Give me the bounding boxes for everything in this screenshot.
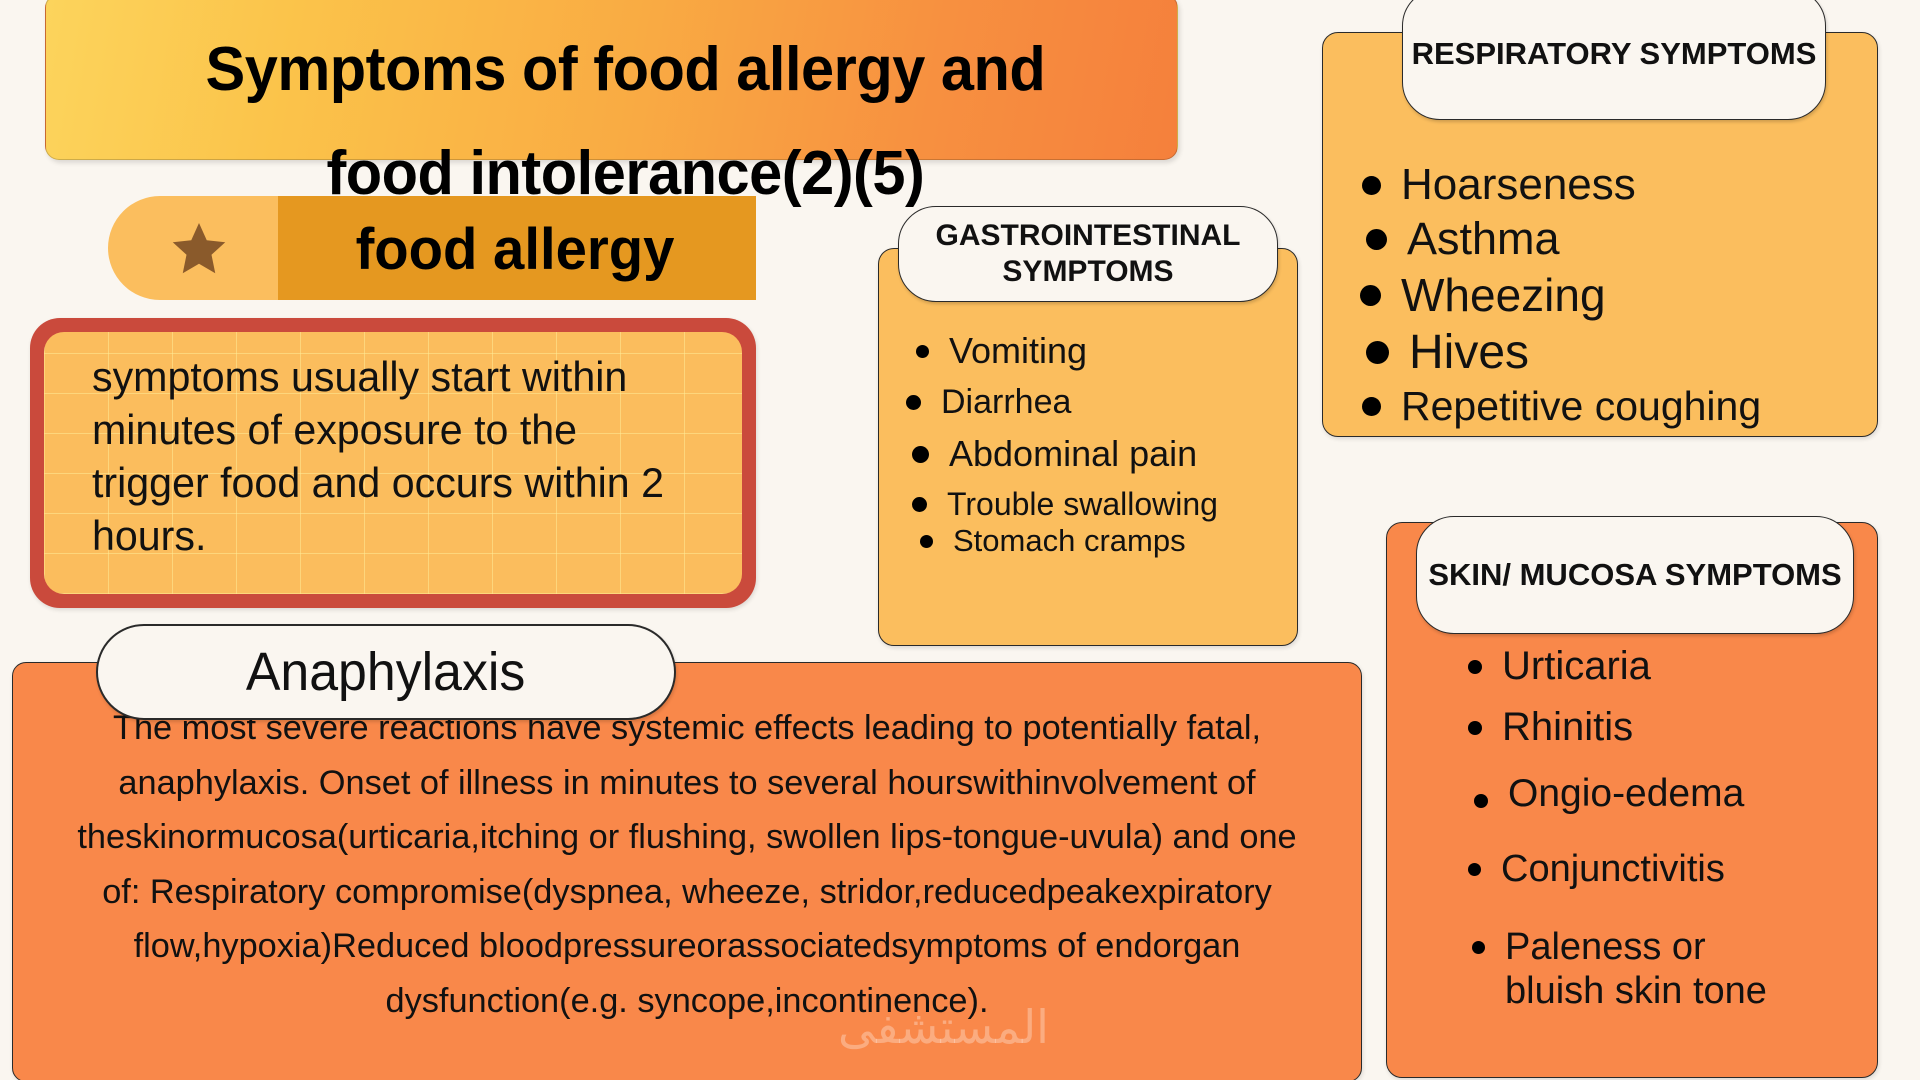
list-item: Repetitive coughing: [1352, 383, 1892, 430]
list-item-label: Conjunctivitis: [1501, 848, 1725, 891]
bullet-icon: [1362, 176, 1381, 195]
list-item-label: Abdominal pain: [949, 433, 1197, 475]
list-item-label: Paleness or bluish skin tone: [1505, 925, 1805, 1013]
gastrointestinal-header: GASTROINTESTINAL SYMPTOMS: [898, 206, 1278, 302]
anaphylaxis-label: Anaphylaxis: [246, 641, 526, 703]
anaphylaxis-card: The most severe reactions have systemic …: [12, 662, 1362, 1080]
list-item: Asthma: [1352, 213, 1892, 265]
bullet-icon: [912, 446, 929, 463]
list-item-label: Ongio-edema: [1508, 772, 1744, 816]
skin-mucosa-list: Urticaria Rhinitis Ongio-edema Conjuncti…: [1468, 644, 1920, 1013]
bullet-icon: [1468, 660, 1482, 674]
list-item-label: Hoarseness: [1401, 160, 1636, 210]
bullet-icon: [1366, 341, 1389, 364]
bullet-icon: [906, 395, 921, 410]
list-item-label: Asthma: [1407, 213, 1560, 265]
bullet-icon: [1366, 229, 1387, 250]
bullet-icon: [1360, 285, 1381, 306]
anaphylaxis-header: Anaphylaxis: [96, 624, 676, 720]
list-item: Diarrhea: [902, 383, 1302, 422]
list-item: Vomiting: [902, 330, 1302, 372]
bullet-icon: [1474, 794, 1488, 808]
food-allergy-label: food allergy: [306, 206, 723, 292]
list-item-label: Trouble swallowing: [947, 486, 1218, 523]
star-icon: [168, 219, 230, 279]
poster-canvas: Symptoms of food allergy and food intole…: [0, 0, 1920, 1080]
list-item-label: Hives: [1409, 325, 1529, 380]
onset-note-text: symptoms usually start within minutes of…: [92, 350, 704, 562]
list-item-label: Rhinitis: [1502, 705, 1633, 750]
bullet-icon: [1468, 721, 1482, 735]
list-item-label: Repetitive coughing: [1401, 383, 1761, 430]
list-item: Stomach cramps: [902, 523, 1302, 559]
bullet-icon: [1362, 397, 1381, 416]
list-item: Wheezing: [1352, 268, 1892, 322]
bullet-icon: [920, 535, 933, 548]
bullet-icon: [1472, 941, 1485, 954]
list-item: Rhinitis: [1468, 705, 1920, 750]
list-item-label: Stomach cramps: [953, 523, 1186, 559]
list-item: Urticaria: [1468, 644, 1920, 689]
list-item: Hives: [1352, 325, 1892, 380]
bullet-icon: [912, 497, 927, 512]
list-item: Conjunctivitis: [1468, 848, 1920, 891]
list-item: Abdominal pain: [902, 433, 1302, 475]
list-item-label: Vomiting: [949, 330, 1087, 372]
respiratory-list: Hoarseness Asthma Wheezing Hives Repetit…: [1352, 160, 1892, 433]
list-item: Ongio-edema: [1468, 772, 1920, 816]
bullet-icon: [1468, 863, 1481, 876]
list-item: Trouble swallowing: [902, 486, 1302, 523]
list-item-label: Wheezing: [1401, 268, 1606, 322]
respiratory-header: RESPIRATORY SYMPTOMS: [1402, 0, 1826, 120]
skin-mucosa-header: SKIN/ MUCOSA SYMPTOMS: [1416, 516, 1854, 634]
title-banner: [45, 0, 1178, 160]
onset-note-inner: symptoms usually start within minutes of…: [44, 332, 742, 594]
onset-note-card: symptoms usually start within minutes of…: [30, 318, 756, 608]
bullet-icon: [916, 345, 929, 358]
list-item: Hoarseness: [1352, 160, 1892, 210]
list-item: Paleness or bluish skin tone: [1468, 925, 1920, 1013]
list-item-label: Diarrhea: [941, 383, 1071, 422]
gastrointestinal-list: Vomiting Diarrhea Abdominal pain Trouble…: [902, 330, 1302, 570]
list-item-label: Urticaria: [1502, 644, 1651, 689]
